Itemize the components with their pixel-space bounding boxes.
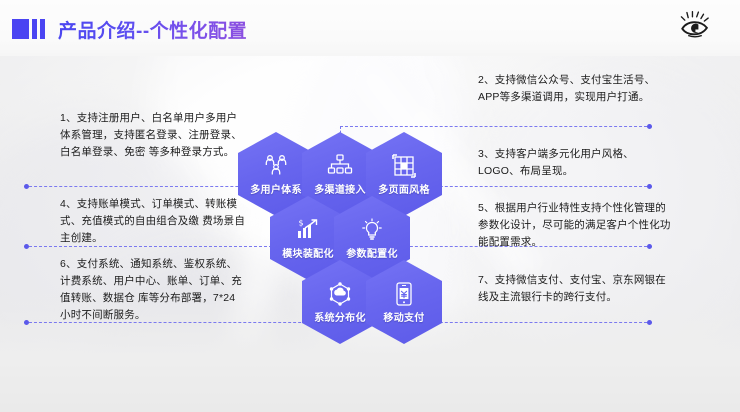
growth-chart-dollar-icon: $ bbox=[295, 217, 321, 243]
note-4: 4、支持账单模式、订单模式、转账模式、充值模式的自由组合及缴 费场景自主创建。 bbox=[60, 196, 246, 247]
hex-label: 参数配置化 bbox=[346, 245, 398, 260]
three-users-icon bbox=[263, 153, 289, 179]
note-6: 6、支付系统、通知系统、鉴权系统、计费系统、用户中心、账单、订单、充值转账、数据… bbox=[60, 256, 246, 324]
mobile-payment-icon bbox=[391, 281, 417, 307]
grid-layout-icon bbox=[391, 153, 417, 179]
distributed-network-cloud-icon bbox=[327, 281, 353, 307]
hex-label: 多页面风格 bbox=[378, 181, 430, 196]
sitemap-hierarchy-icon bbox=[327, 153, 353, 179]
page-title: 产品介绍--个性化配置 bbox=[58, 16, 247, 43]
hex-label: 多渠道接入 bbox=[314, 181, 366, 196]
note-2: 2、支持微信公众号、支付宝生活号、APP等多渠道调用，实现用户打通。 bbox=[478, 72, 674, 106]
lightbulb-idea-icon bbox=[359, 217, 385, 243]
note-5: 5、根据用户行业特性支持个性化管理的参数化设计，尽可能的满足客户个性化功能配置需… bbox=[478, 200, 674, 251]
note-7: 7、支持微信支付、支付宝、京东网银在线及主流银行卡的跨行支付。 bbox=[478, 272, 674, 306]
hex-label: 模块装配化 bbox=[282, 245, 334, 260]
hex-label: 多用户体系 bbox=[250, 181, 302, 196]
hex-label: 移动支付 bbox=[383, 309, 424, 324]
connector-right-1 bbox=[340, 126, 652, 127]
slide-header: 产品介绍--个性化配置 bbox=[0, 0, 740, 56]
note-1: 1、支持注册用户、白名单用户多用户体系管理，支持匿名登录、注册登录、白名单登录、… bbox=[60, 110, 246, 161]
title-accent-bars bbox=[12, 19, 45, 39]
note-3: 3、支持客户端多元化用户风格、LOGO、布局呈现。 bbox=[478, 146, 674, 180]
svg-text:$: $ bbox=[299, 218, 304, 227]
hex-label: 系统分布化 bbox=[314, 309, 366, 324]
slide-canvas: 产品介绍--个性化配置 1、支持注册用户、白名 bbox=[0, 0, 740, 412]
eye-logo-icon bbox=[678, 10, 712, 44]
